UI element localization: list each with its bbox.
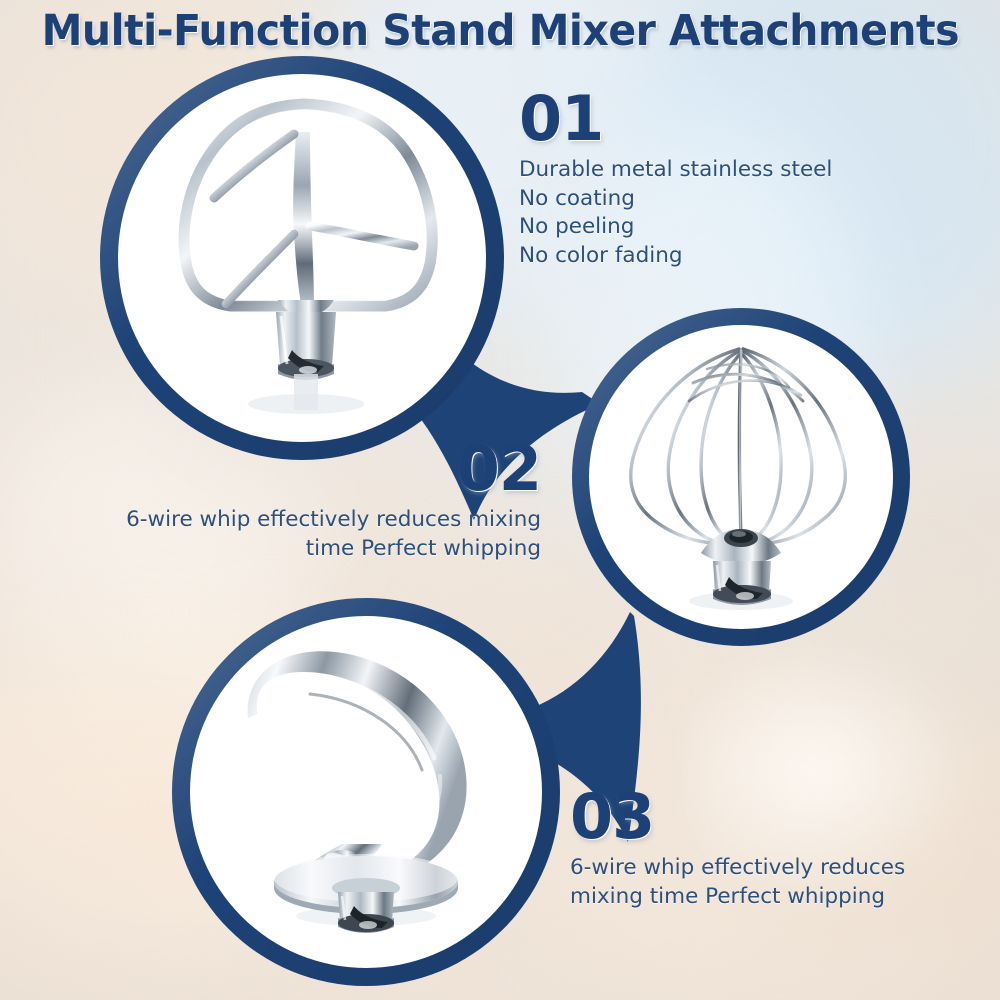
feature-text-block-01: 01 Durable metal stainless steel No coat…	[519, 88, 832, 270]
feature-line: No color fading	[519, 242, 832, 271]
feature-number-03: 03	[570, 786, 905, 848]
feature-text-block-02: 02 6-wire whip effectively reduces mixin…	[58, 438, 541, 563]
product-infographic: Multi-Function Stand Mixer Attachments	[0, 0, 1000, 1000]
feature-description-02: 6-wire whip effectively reduces mixing t…	[58, 506, 541, 563]
feature-image-01	[118, 74, 486, 442]
feature-number-02: 02	[58, 438, 541, 500]
feature-line: time Perfect whipping	[58, 535, 541, 564]
feature-line: 6-wire whip effectively reduces	[570, 854, 905, 883]
feature-text-block-03: 03 6-wire whip effectively reduces mixin…	[570, 786, 905, 911]
feature-line: No peeling	[519, 213, 832, 242]
feature-line: No coating	[519, 185, 832, 214]
dough-hook-attachment-icon	[190, 616, 542, 968]
feature-image-02	[589, 325, 893, 629]
feature-description-03: 6-wire whip effectively reduces mixing t…	[570, 854, 905, 911]
page-title: Multi-Function Stand Mixer Attachments	[41, 6, 958, 56]
feature-number-01: 01	[519, 88, 832, 150]
feature-image-03	[190, 616, 542, 968]
feature-description-01: Durable metal stainless steel No coating…	[519, 156, 832, 270]
page-title-bar: Multi-Function Stand Mixer Attachments	[0, 0, 1000, 62]
flat-beater-attachment-icon	[118, 74, 486, 442]
feature-line: mixing time Perfect whipping	[570, 883, 905, 912]
wire-whip-attachment-icon	[589, 325, 893, 629]
feature-line: 6-wire whip effectively reduces mixing	[58, 506, 541, 535]
feature-line: Durable metal stainless steel	[519, 156, 832, 185]
